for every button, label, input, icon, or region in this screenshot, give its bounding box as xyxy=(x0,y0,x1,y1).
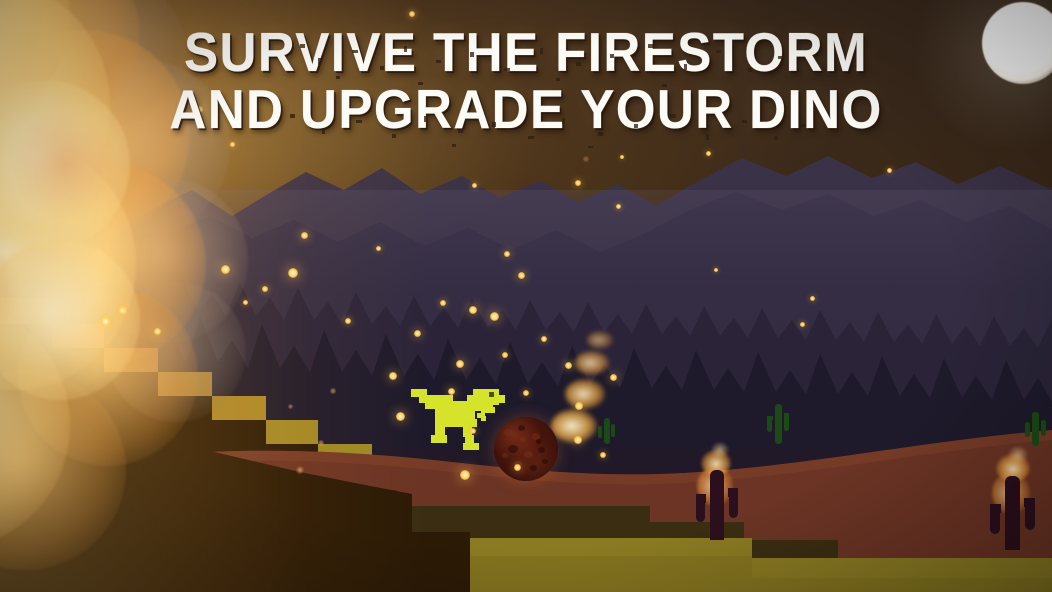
game-promo-screenshot: SURVIVE THE FIRESTORM AND UPGRADE YOUR D… xyxy=(0,0,1052,592)
vignette-overlay xyxy=(0,0,1052,592)
